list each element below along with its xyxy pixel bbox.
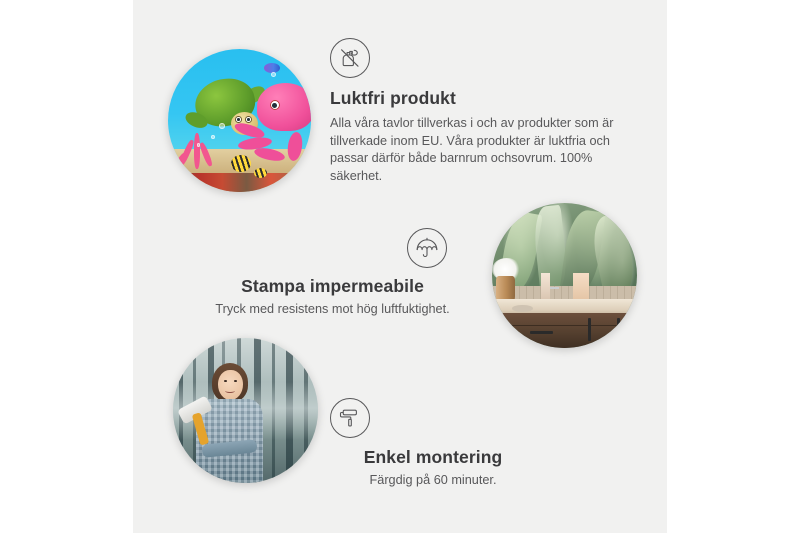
drawer-seam [501,325,629,326]
feature-title: Enkel montering [308,447,558,468]
feature-waterproof: Stampa impermeabile Tryck med resistens … [190,228,475,319]
feature-description: Tryck med resistens mot hög luftfuktighe… [190,301,475,319]
bubble [271,72,276,77]
feature-description: Färgdig på 60 minuter. [308,472,558,490]
octopus-head [257,83,311,130]
umbrella-icon [407,228,447,268]
feature-title: Luktfri produkt [330,88,630,109]
infographic-root: Luktfri produkt Alla våra tavlor tillver… [0,0,800,533]
vanity-cabinet [492,313,637,348]
turtle-eye [245,116,252,123]
sea-bottom-strip [168,173,311,192]
fish-striped [254,168,267,178]
paint-roller-icon [330,398,370,438]
woman-face [218,370,243,400]
fish-striped [231,155,251,172]
feature-title: Stampa impermeabile [190,276,475,297]
coral [178,126,218,169]
drawer-handle [530,331,553,335]
feature-easy-mounting: Enkel montering Färgdig på 60 minuter. [308,398,558,490]
woman-eye [224,380,227,382]
soap-dish [512,305,532,312]
bubble [197,143,201,147]
cabinet-handle [617,318,621,341]
photo-woman-painter-forest [173,338,318,483]
no-odour-perfume-icon [330,38,370,78]
woman-eye [234,380,237,382]
cabinet-handle [588,318,592,341]
turtle-eye [235,116,242,123]
feature-odour-free: Luktfri produkt Alla våra tavlor tillver… [330,38,630,185]
photo-bathroom-mural [492,203,637,348]
icon-wrap [308,398,558,447]
soap-dispenser [541,273,550,302]
icon-wrap [190,228,475,276]
feature-description: Alla våra tavlor tillverkas i och av pro… [330,115,630,185]
photo-sea-life [168,49,311,192]
